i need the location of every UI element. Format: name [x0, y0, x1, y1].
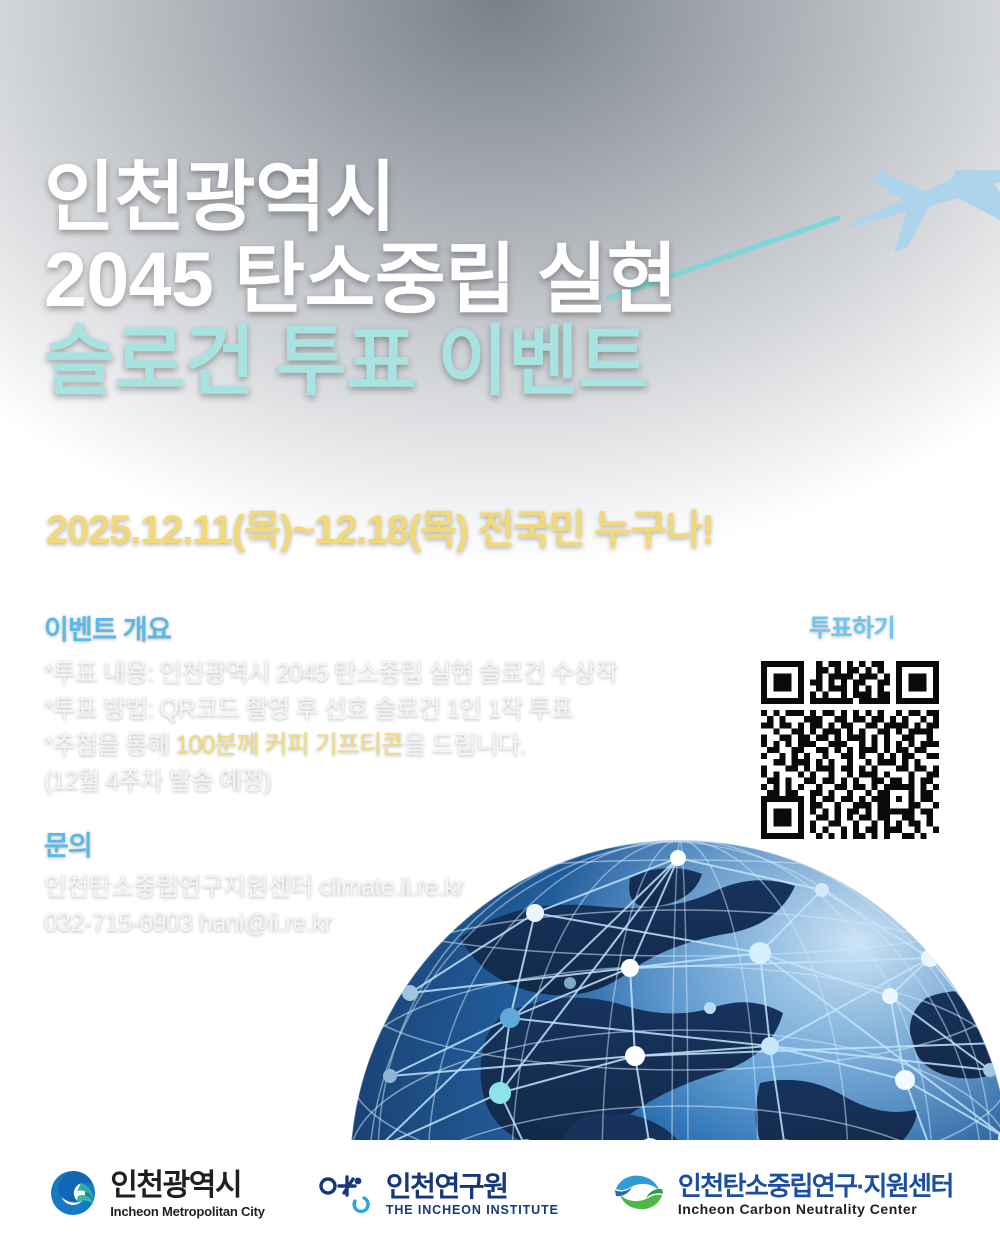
logo-carbon-center-ko: 인천탄소중립연구·지원센터	[678, 1173, 953, 1200]
event-info-line-3-prefix: *추첨을 통해	[44, 731, 175, 759]
incheon-city-swirl-icon	[47, 1167, 99, 1224]
event-info-section: 이벤트 개요 *투표 내용: 인천광역시 2045 탄소중립 실현 슬로건 수상…	[44, 608, 684, 799]
logo-incheon-city-ko: 인천광역시	[110, 1171, 265, 1202]
footer-logos: 인천광역시 Incheon Metropolitan City 인천연구원 TH…	[0, 1140, 1000, 1250]
logo-carbon-center-en: Incheon Carbon Neutrality Center	[678, 1202, 953, 1217]
carbon-neutrality-leaf-icon	[611, 1169, 667, 1222]
logo-incheon-city-text: 인천광역시 Incheon Metropolitan City	[110, 1171, 265, 1218]
event-info-line-4: (12월 4주차 발송 예정)	[44, 763, 684, 799]
logo-incheon-city-en: Incheon Metropolitan City	[110, 1205, 265, 1219]
logo-carbon-center-text: 인천탄소중립연구·지원센터 Incheon Carbon Neutrality …	[678, 1173, 953, 1216]
logo-incheon-institute-text: 인천연구원 THE INCHEON INSTITUTE	[386, 1173, 559, 1218]
headline: 인천광역시 2045 탄소중립 실현 슬로건 투표 이벤트	[44, 160, 904, 401]
logo-incheon-institute-en: THE INCHEON INSTITUTE	[386, 1204, 559, 1217]
incheon-institute-mark-icon	[317, 1169, 375, 1222]
headline-line-2: 2045 탄소중립 실현	[44, 242, 904, 318]
event-info-line-1: *투표 내용: 인천광역시 2045 탄소중립 실현 슬로건 수상작	[44, 655, 684, 691]
logo-incheon-institute-ko: 인천연구원	[386, 1173, 559, 1202]
contact-section: 문의 인천탄소중립연구지원센터 climate.ii.re.kr 032-715…	[44, 824, 604, 942]
headline-line-1: 인천광역시	[44, 160, 904, 236]
logo-incheon-institute: 인천연구원 THE INCHEON INSTITUTE	[317, 1169, 559, 1222]
event-info-heading: 이벤트 개요	[44, 608, 684, 647]
event-info-line-3-highlight: 100분께 커피 기프티콘	[175, 731, 403, 759]
event-info-line-3-suffix: 을 드립니다.	[403, 731, 526, 759]
qr-code[interactable]	[752, 652, 948, 848]
qr-label: 투표하기	[752, 608, 952, 643]
poster-root: 인천광역시 2045 탄소중립 실현 슬로건 투표 이벤트 2025.12.11…	[0, 0, 1000, 1250]
logo-incheon-metropolitan-city: 인천광역시 Incheon Metropolitan City	[47, 1167, 265, 1224]
headline-line-3: 슬로건 투표 이벤트	[44, 324, 904, 400]
contact-line-1: 인천탄소중립연구지원센터 climate.ii.re.kr	[44, 869, 604, 905]
event-info-line-2: *투표 방법: QR코드 촬영 후 선호 슬로건 1인 1작 투표	[44, 691, 684, 727]
event-dateline: 2025.12.11(목)~12.18(목) 전국민 누구나!	[46, 497, 713, 555]
contact-line-2: 032-715-6903 hani@ii.re.kr	[44, 905, 604, 941]
logo-carbon-neutrality-center: 인천탄소중립연구·지원센터 Incheon Carbon Neutrality …	[611, 1169, 953, 1222]
event-info-line-3: *추첨을 통해 100분께 커피 기프티콘을 드립니다.	[44, 727, 684, 763]
contact-heading: 문의	[44, 824, 604, 863]
qr-block[interactable]: 투표하기	[752, 608, 952, 848]
